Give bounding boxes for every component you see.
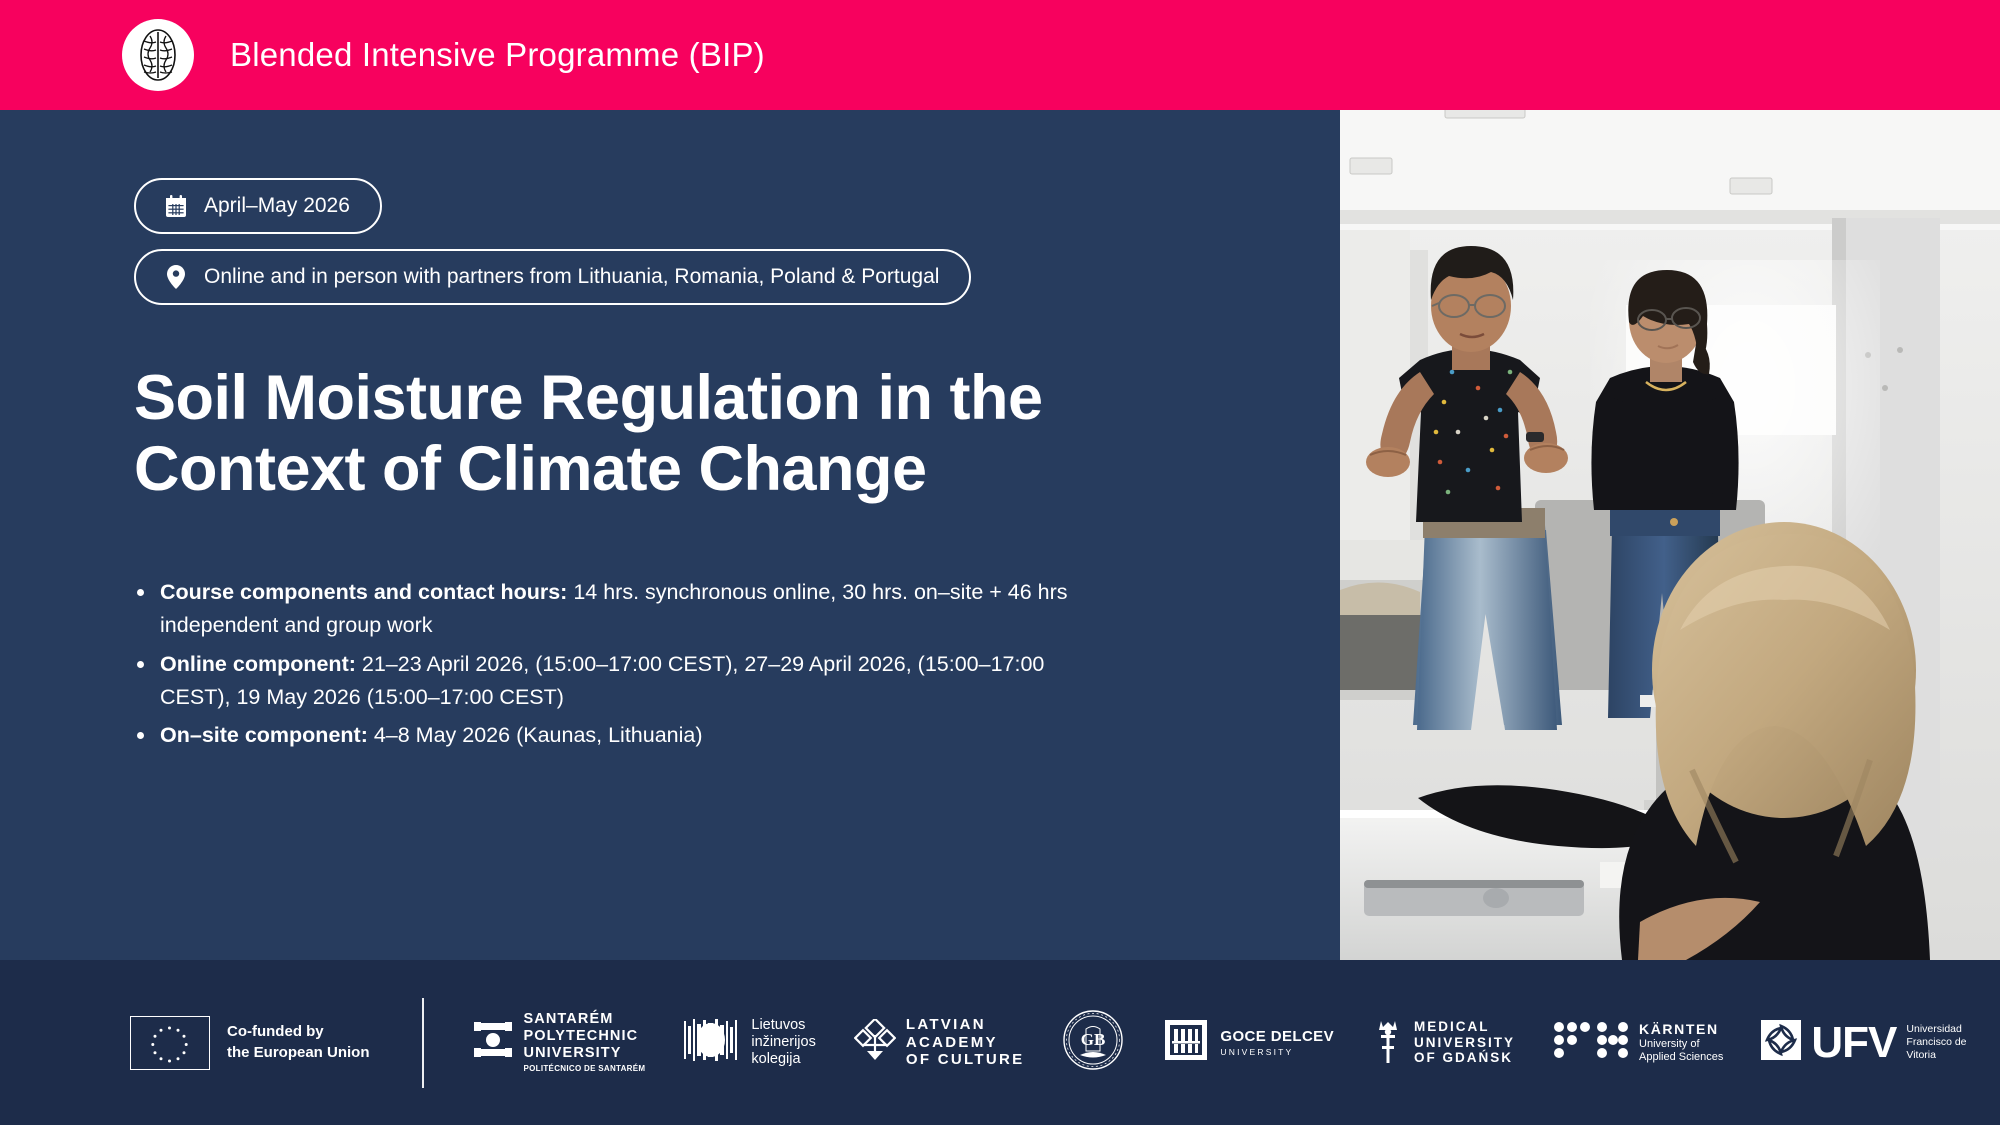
latvian-line3: OF CULTURE [906, 1051, 1025, 1069]
detail-label: Online component: [160, 652, 356, 676]
karnten-dots-logo-icon [1553, 1019, 1629, 1066]
partner-logo-goce-delcev: GOCE DELCEV UNIVERSITY [1162, 1017, 1334, 1068]
partner-logo-usamv-seal: GB [1062, 1009, 1124, 1076]
eu-flag-icon [130, 1016, 210, 1070]
svg-text:GB: GB [1081, 1030, 1106, 1049]
location-pill-label: Online and in person with partners from … [204, 265, 939, 289]
lietuvos-line1: Lietuvos [751, 1017, 815, 1034]
partner-logo-gdansk: MEDICAL UNIVERSITY OF GDAŃSK [1372, 1016, 1515, 1069]
lietuvos-line3: kolegija [751, 1051, 815, 1068]
partner-logo-ufv: UFV Universidad Francisco de Vitoria [1761, 1020, 1966, 1065]
santarem-line1: SANTARÉM [524, 1011, 646, 1028]
eu-funding-line2: the European Union [227, 1043, 370, 1063]
partner-logos: SANTARÉM POLYTECHNIC UNIVERSITY POLITÉCN… [472, 1009, 2000, 1076]
list-item: Online component: 21–23 April 2026, (15:… [134, 648, 1094, 715]
eu-funding-line1: Co-funded by [227, 1022, 370, 1042]
ufv-line2: Universidad [1906, 1023, 1966, 1036]
date-pill: April–May 2026 [134, 178, 382, 234]
gdansk-asclepius-logo-icon [1372, 1016, 1404, 1069]
page-header: Blended Intensive Programme (BIP) [0, 0, 2000, 110]
ufv-line4: Vitoria [1906, 1049, 1966, 1062]
partner-footer: Co-funded by the European Union [0, 960, 2000, 1125]
partner-logo-santarem: SANTARÉM POLYTECHNIC UNIVERSITY POLITÉCN… [472, 1011, 646, 1074]
partner-logo-lietuvos: Lietuvos inžinerijos kolegija [683, 1017, 815, 1068]
lietuvos-line2: inžinerijos [751, 1034, 815, 1051]
latvian-line2: ACADEMY [906, 1034, 1025, 1052]
santarem-line3: UNIVERSITY [524, 1045, 646, 1062]
ufv-line3: Francisco de [1906, 1036, 1966, 1049]
usamv-seal-logo-icon: GB [1062, 1009, 1124, 1076]
goce-delcev-logo-icon [1162, 1017, 1210, 1068]
santarem-logo-icon [472, 1021, 514, 1064]
gdansk-line1: MEDICAL [1414, 1019, 1515, 1035]
hero-photo [1340, 110, 2000, 960]
latvian-line1: LATVIAN [906, 1016, 1025, 1034]
karnten-line1: KÄRNTEN [1639, 1021, 1723, 1038]
calendar-icon [164, 195, 188, 218]
main-content: April–May 2026 Online and in person with… [0, 110, 1340, 960]
goce-line2: UNIVERSITY [1220, 1047, 1334, 1057]
brain-icon [122, 19, 194, 91]
programme-title: Soil Moisture Regulation in the Context … [134, 363, 1094, 504]
date-pill-label: April–May 2026 [204, 194, 350, 218]
ufv-initials: UFV [1811, 1023, 1896, 1063]
karnten-line3: Applied Sciences [1639, 1051, 1723, 1064]
ufv-weave-logo-icon [1761, 1020, 1801, 1065]
goce-line1: GOCE DELCEV [1220, 1028, 1334, 1046]
lietuvos-barcode-logo-icon [683, 1017, 741, 1068]
list-item: Course components and contact hours: 14 … [134, 576, 1094, 643]
partner-logo-latvian-academy: LATVIAN ACADEMY OF CULTURE [854, 1016, 1025, 1069]
page-title: Blended Intensive Programme (BIP) [230, 36, 765, 74]
location-pin-icon [164, 265, 188, 289]
detail-label: On–site component: [160, 723, 368, 747]
gdansk-line2: UNIVERSITY [1414, 1035, 1515, 1051]
footer-divider [422, 998, 424, 1088]
list-item: On–site component: 4–8 May 2026 (Kaunas,… [134, 719, 1094, 752]
santarem-line4: POLITÉCNICO DE SANTARÉM [524, 1064, 646, 1073]
location-pill: Online and in person with partners from … [134, 249, 971, 305]
gdansk-line3: OF GDAŃSK [1414, 1050, 1515, 1066]
programme-details-list: Course components and contact hours: 14 … [134, 576, 1094, 753]
detail-value: 4–8 May 2026 (Kaunas, Lithuania) [368, 723, 703, 747]
latvian-academy-logo-icon [854, 1019, 896, 1066]
eu-funding-block: Co-funded by the European Union [130, 1016, 370, 1070]
detail-label: Course components and contact hours: [160, 580, 567, 604]
santarem-line2: POLYTECHNIC [524, 1028, 646, 1045]
partner-logo-karnten: KÄRNTEN University of Applied Sciences [1553, 1019, 1723, 1066]
karnten-line2: University of [1639, 1038, 1723, 1051]
